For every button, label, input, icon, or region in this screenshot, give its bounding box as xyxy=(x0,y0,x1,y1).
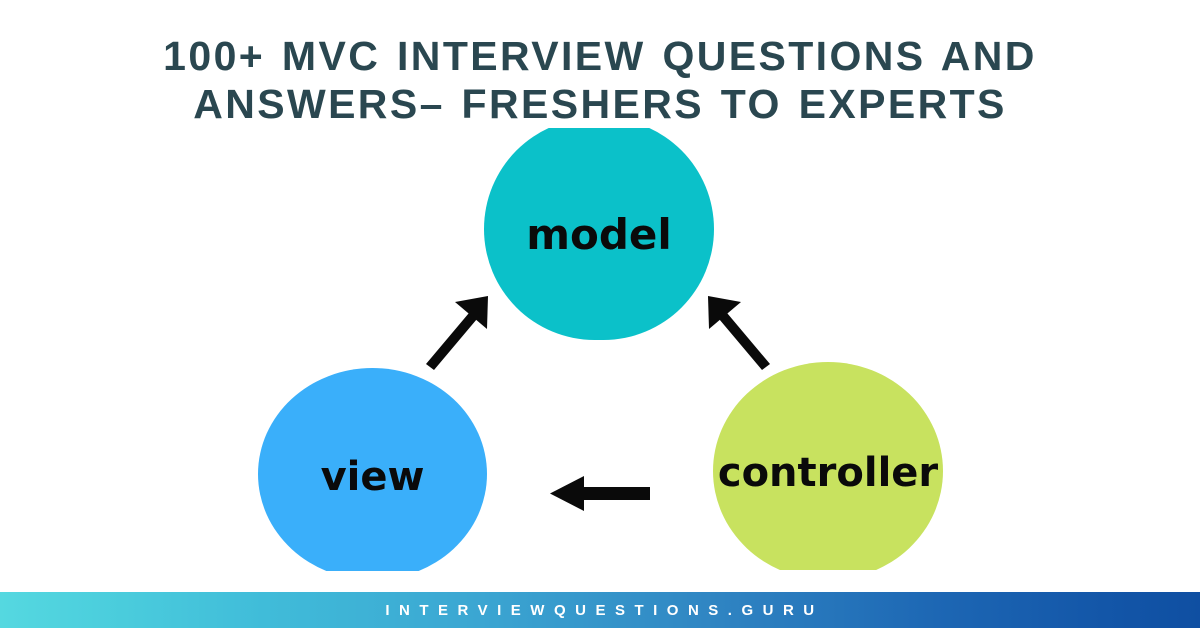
page-title: 100+ MVC Interview Questions and Answers… xyxy=(0,32,1200,128)
arrow-controller-to-view-icon xyxy=(550,470,650,523)
diagram-node-view: view xyxy=(258,368,487,580)
diagram-node-view-label: view xyxy=(321,457,425,497)
footer-brand-bar: interviewquestions.guru xyxy=(0,592,1200,628)
arrow-controller-to-model-icon xyxy=(700,292,778,375)
diagram-node-controller-label: controller xyxy=(718,453,938,493)
footer-brand-text: interviewquestions.guru xyxy=(376,602,823,619)
diagram-node-model-label: model xyxy=(526,214,672,256)
poster-canvas: 100+ MVC Interview Questions and Answers… xyxy=(0,0,1200,628)
mvc-diagram: model view controller xyxy=(0,118,1200,578)
arrow-view-to-model-icon xyxy=(418,292,496,375)
diagram-node-controller: controller xyxy=(713,362,943,580)
page-title-line-1: 100+ MVC Interview Questions and xyxy=(120,32,1080,80)
diagram-node-model: model xyxy=(484,118,714,340)
